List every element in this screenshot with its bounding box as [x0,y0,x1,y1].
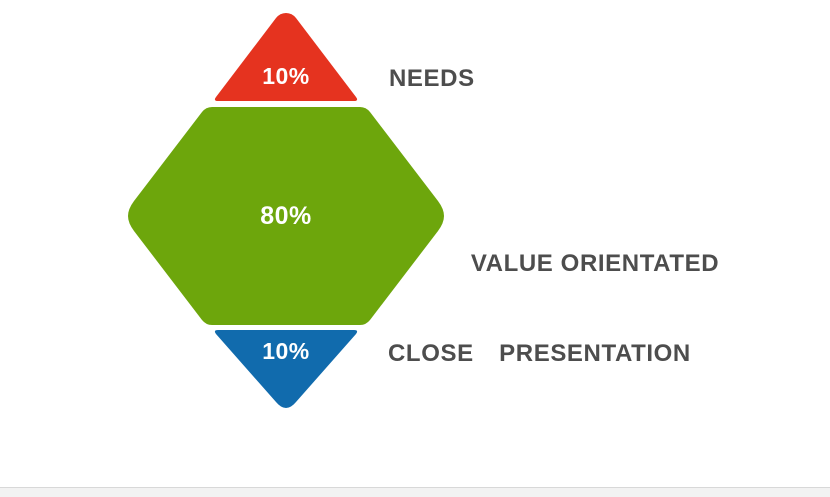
segment-caption-presentation: VALUE ORIENTATED PRESENTATION [470,189,720,429]
segment-caption-presentation-line1: VALUE ORIENTATED [470,249,720,279]
segment-shape-presentation[interactable] [128,107,444,325]
segment-caption-needs: NEEDS [389,65,475,93]
funnel-diagram: 10% 80% 10% NEEDS VALUE ORIENTATED PRESE… [0,0,830,497]
bottom-strip [0,488,830,497]
segment-caption-close: CLOSE [388,340,474,368]
screenshot-canvas: 10% 80% 10% NEEDS VALUE ORIENTATED PRESE… [0,0,830,497]
segment-shape-needs[interactable] [215,13,357,101]
segment-shape-close[interactable] [215,330,357,408]
segment-caption-presentation-line2: PRESENTATION [470,339,720,369]
